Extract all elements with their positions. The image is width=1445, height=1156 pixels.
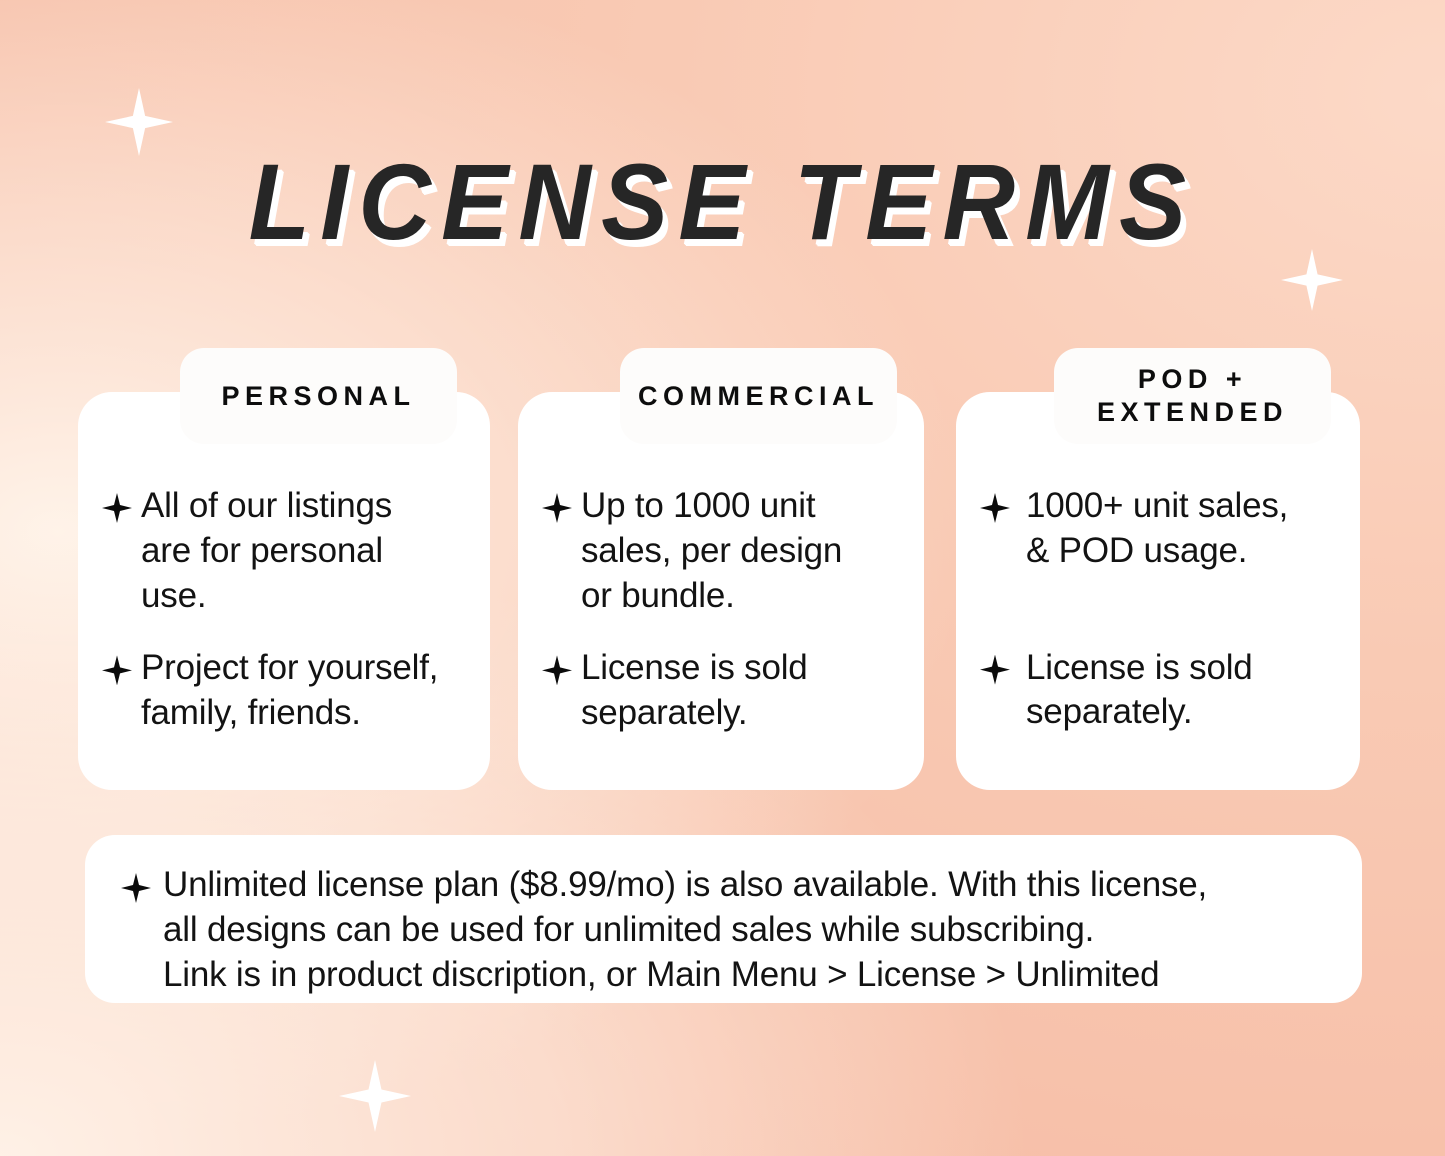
card-body-personal: All of our listings are for personal use… bbox=[78, 484, 490, 736]
license-card-personal: All of our listings are for personal use… bbox=[78, 392, 490, 790]
four-point-star-bullet-icon bbox=[980, 493, 1010, 523]
bullet-text: Project for yourself, family, friends. bbox=[141, 646, 438, 736]
sparkle-icon-top-right bbox=[1281, 249, 1343, 311]
card-tab-commercial[interactable]: COMMERCIAL bbox=[620, 348, 897, 444]
license-terms-page: LICENSE TERMS All of our listings are fo… bbox=[0, 0, 1445, 1156]
list-item: Project for yourself, family, friends. bbox=[102, 646, 468, 736]
four-point-star-bullet-icon bbox=[121, 873, 151, 903]
four-point-star-bullet-icon bbox=[980, 655, 1010, 685]
card-body-pod-extended: 1000+ unit sales, & POD usage. License i… bbox=[956, 484, 1360, 735]
bullet-text: License is sold separately. bbox=[1026, 646, 1253, 736]
page-title: LICENSE TERMS bbox=[249, 148, 1197, 256]
banner-text: Unlimited license plan ($8.99/mo) is als… bbox=[163, 862, 1207, 997]
card-tab-personal[interactable]: PERSONAL bbox=[180, 348, 457, 444]
license-card-pod-extended: 1000+ unit sales, & POD usage. License i… bbox=[956, 392, 1360, 790]
sparkle-icon-top-left bbox=[105, 88, 173, 156]
license-card-commercial: Up to 1000 unit sales, per design or bun… bbox=[518, 392, 924, 790]
card-tab-label: PERSONAL bbox=[221, 380, 415, 413]
list-item: 1000+ unit sales, & POD usage. bbox=[980, 484, 1338, 574]
card-tab-pod-extended[interactable]: POD + EXTENDED bbox=[1054, 348, 1331, 444]
list-item: Unlimited license plan ($8.99/mo) is als… bbox=[121, 862, 1207, 997]
unlimited-plan-banner: Unlimited license plan ($8.99/mo) is als… bbox=[85, 835, 1362, 1003]
bullet-text: All of our listings are for personal use… bbox=[141, 484, 392, 618]
list-item: Up to 1000 unit sales, per design or bun… bbox=[542, 484, 902, 618]
four-point-star-bullet-icon bbox=[102, 493, 132, 523]
bullet-text: License is sold separately. bbox=[581, 646, 808, 736]
list-item: License is sold separately. bbox=[542, 646, 902, 736]
list-item: License is sold separately. bbox=[980, 646, 1338, 736]
list-item: All of our listings are for personal use… bbox=[102, 484, 468, 618]
bullet-text: 1000+ unit sales, & POD usage. bbox=[1026, 484, 1288, 574]
four-point-star-bullet-icon bbox=[542, 655, 572, 685]
card-tab-label: POD + EXTENDED bbox=[1097, 363, 1288, 429]
card-tab-label: COMMERCIAL bbox=[638, 380, 879, 413]
page-title-wrapper: LICENSE TERMS bbox=[0, 148, 1445, 256]
card-body-commercial: Up to 1000 unit sales, per design or bun… bbox=[518, 484, 924, 736]
four-point-star-bullet-icon bbox=[542, 493, 572, 523]
four-point-star-bullet-icon bbox=[102, 655, 132, 685]
bullet-text: Up to 1000 unit sales, per design or bun… bbox=[581, 484, 842, 618]
sparkle-icon-bottom-left bbox=[339, 1060, 411, 1132]
